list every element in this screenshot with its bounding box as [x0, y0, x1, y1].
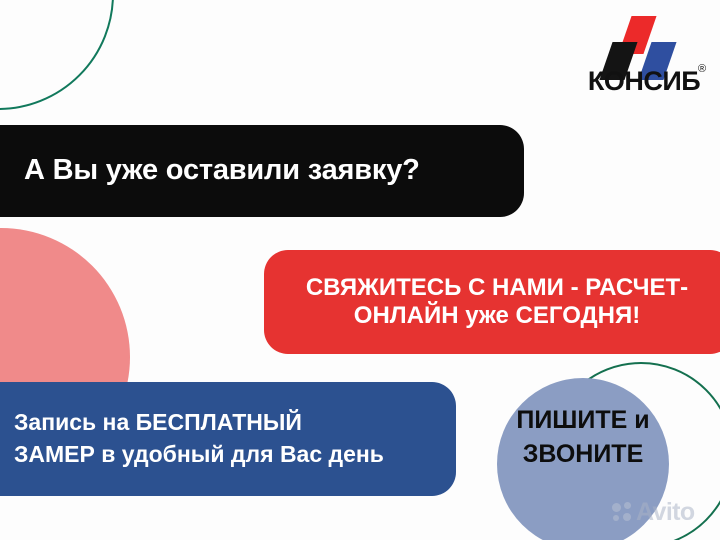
- logo-mark-group: [578, 16, 710, 68]
- contact-banner-line-1: СВЯЖИТЕСЬ С НАМИ - РАСЧЕТ-: [306, 274, 688, 302]
- registered-trademark-icon: ®: [698, 64, 706, 75]
- logo-wordmark: КОНСИБ: [578, 68, 710, 95]
- measurement-banner: Запись на БЕСПЛАТНЫЙ ЗАМЕР в удобный для…: [0, 382, 456, 496]
- measurement-banner-line-1: Запись на БЕСПЛАТНЫЙ: [14, 407, 440, 439]
- call-to-action-caption: ПИШИТЕ и ЗВОНИТЕ: [492, 404, 674, 471]
- contact-banner: СВЯЖИТЕСЬ С НАМИ - РАСЧЕТ- ОНЛАЙН уже СЕ…: [264, 250, 720, 354]
- contact-banner-line-2: ОНЛАЙН уже СЕГОДНЯ!: [354, 302, 640, 330]
- promo-poster: КОНСИБ ® А Вы уже оставили заявку? СВЯЖИ…: [0, 0, 720, 540]
- call-to-action-line-2: ЗВОНИТЕ: [492, 438, 674, 472]
- decorative-ring-top-left: [0, 0, 114, 110]
- question-banner-text: А Вы уже оставили заявку?: [24, 155, 506, 187]
- call-to-action-line-1: ПИШИТЕ и: [492, 404, 674, 438]
- question-banner: А Вы уже оставили заявку?: [0, 125, 524, 217]
- brand-logo: КОНСИБ ®: [578, 16, 710, 104]
- measurement-banner-line-2: ЗАМЕР в удобный для Вас день: [14, 439, 440, 471]
